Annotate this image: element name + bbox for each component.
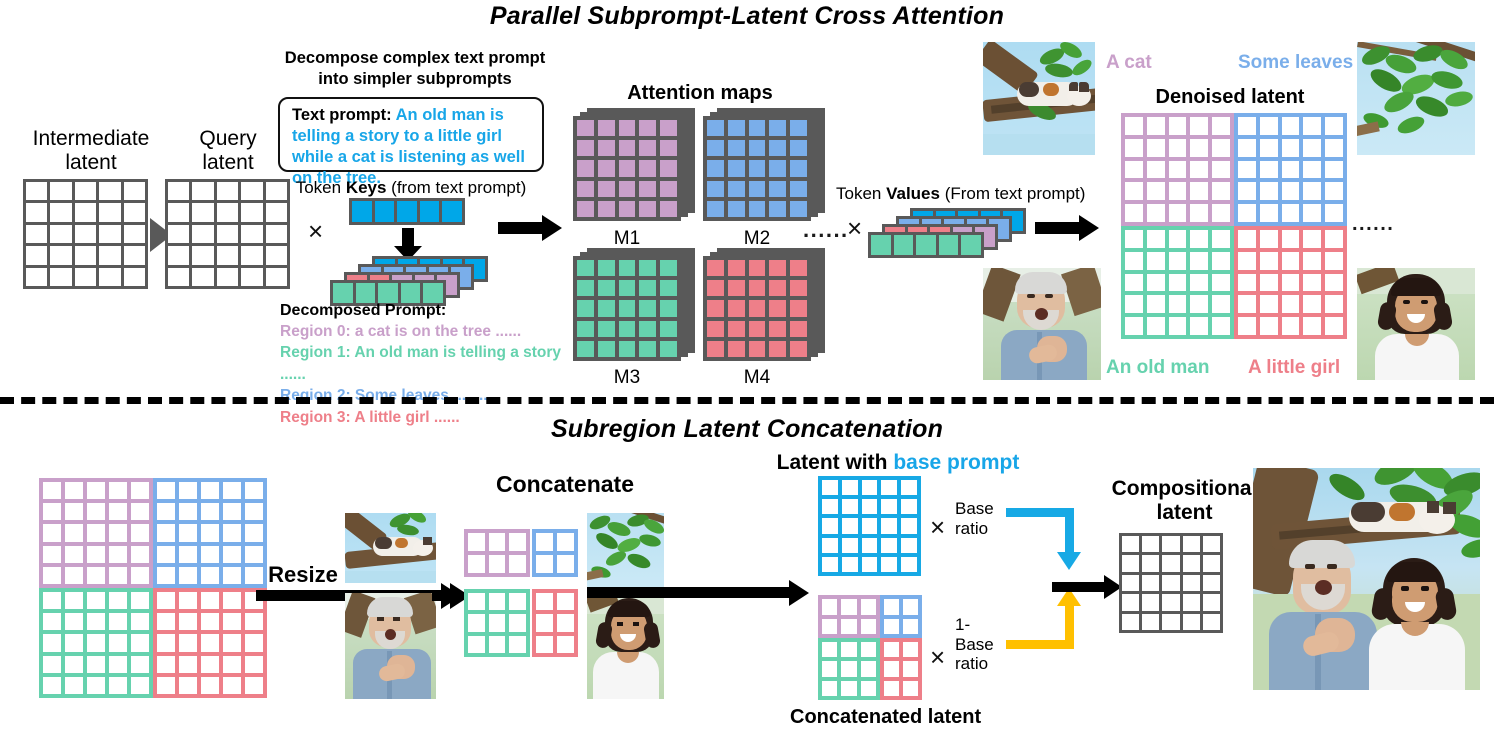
photo-cat-on-tree <box>983 42 1095 155</box>
decomposed-prompt-title: Decomposed Prompt: <box>280 300 580 321</box>
attention-map-m1-label: M1 <box>573 228 681 249</box>
attention-map-m2-label: M2 <box>703 228 811 249</box>
top-section-title: Parallel Subprompt-Latent Cross Attentio… <box>0 2 1494 31</box>
quadrant-label-a-cat: A cat <box>1106 52 1216 73</box>
section-divider <box>0 397 1494 404</box>
attention-map-m4 <box>703 248 825 370</box>
attention-maps-title: Attention maps <box>590 82 810 104</box>
token-keys-bold: Keys <box>346 178 387 197</box>
subregion-latent-quadrant-green <box>39 588 153 698</box>
concat-small-quadrant-blue <box>532 529 578 577</box>
query-latent-label-line1: Query <box>158 127 298 151</box>
token-values-suffix: (From text prompt) <box>940 184 1085 203</box>
denoised-latent-title: Denoised latent <box>1110 86 1350 108</box>
token-keys-strip <box>349 198 465 225</box>
photo-old-man <box>983 268 1101 380</box>
region-1-text: Region 1: An old man is telling a story … <box>280 342 580 385</box>
concat-small-quadrant-purple <box>464 529 530 577</box>
decomposed-prompt-block: Decomposed Prompt: Region 0: a cat is on… <box>280 300 580 428</box>
photo-old-man-small <box>345 593 436 699</box>
photo-cat-on-tree-small <box>345 513 436 583</box>
decompose-note-line2: into simpler subprompts <box>280 69 550 90</box>
query-latent-label: Query latent <box>158 127 298 174</box>
compositional-latent-line2: latent <box>1092 501 1277 525</box>
token-values-bold: Values <box>886 184 940 203</box>
denoised-latent-quadrant-green <box>1121 226 1234 339</box>
intermediate-latent-label: Intermediate latent <box>6 127 176 174</box>
quadrant-label-some-leaves: Some leaves <box>1238 52 1398 73</box>
resize-label: Resize <box>248 563 358 588</box>
compositional-latent-grid <box>1119 533 1223 633</box>
intermediate-latent-label-line2: latent <box>6 151 176 175</box>
bottom-section-title: Subregion Latent Concatenation <box>0 415 1494 444</box>
denoised-latent-quadrant-blue <box>1234 113 1347 226</box>
multiply-icon-keys: × <box>308 216 323 247</box>
text-prompt-label: Text prompt <box>292 106 386 124</box>
attention-map-m2 <box>703 108 825 230</box>
base-prompt-latent-grid <box>818 476 921 576</box>
latent-with-base-prompt-label: Latent with base prompt <box>718 451 1078 475</box>
photo-leaves-small <box>587 513 664 587</box>
text-prompt-colon: : <box>386 106 392 124</box>
attention-map-m1 <box>573 108 695 230</box>
latent-with-base-highlight: base prompt <box>893 451 1019 474</box>
region-0-text: Region 0: a cat is on the tree ...... <box>280 321 580 342</box>
concat-small-quadrant-green <box>464 589 530 657</box>
intermediate-latent-label-line1: Intermediate <box>6 127 176 151</box>
attention-maps-ellipsis: ...... <box>803 217 849 243</box>
multiply-icon-values: × <box>847 213 862 244</box>
subregion-latent-quadrant-red <box>153 588 267 698</box>
token-keys-suffix: (from text prompt) <box>386 178 526 197</box>
quadrant-label-an-old-man: An old man <box>1106 357 1256 378</box>
text-prompt-balloon: Text prompt: An old man is telling a sto… <box>278 97 544 172</box>
query-latent-grid <box>165 179 290 289</box>
denoised-latent-quadrant-purple <box>1121 113 1234 226</box>
intermediate-latent-grid <box>23 179 148 289</box>
token-keys-prefix: Token <box>296 178 346 197</box>
concatenate-label: Concatenate <box>450 472 680 498</box>
one-minus-base-ratio-merge-arrow-icon <box>1006 588 1086 660</box>
token-values-caption: Token Values (From text prompt) <box>836 184 1066 204</box>
base-ratio-merge-arrow-icon <box>1006 508 1086 580</box>
attention-map-m3 <box>573 248 695 370</box>
photo-little-girl-small <box>587 592 664 699</box>
decompose-note: Decompose complex text prompt into simpl… <box>280 48 550 89</box>
decomposed-keys-stack <box>330 256 490 304</box>
concatenated-latent-quadrant-purple <box>818 595 880 638</box>
multiply-icon-base-ratio: × <box>930 512 945 543</box>
token-keys-caption: Token Keys (from text prompt) <box>280 178 542 198</box>
attention-map-m3-label: M3 <box>573 367 681 388</box>
compositional-latent-line1: Compositional <box>1092 477 1277 501</box>
concatenated-latent-quadrant-red <box>880 638 922 700</box>
query-latent-label-line2: latent <box>158 151 298 175</box>
photo-compositional-result <box>1253 468 1480 690</box>
latent-with-base-prefix: Latent with <box>777 451 894 474</box>
concatenated-latent-quadrant-green <box>818 638 880 700</box>
denoised-latent-ellipsis: ...... <box>1352 213 1394 236</box>
denoised-latent-quadrant-red <box>1234 226 1347 339</box>
token-values-stack <box>868 208 1028 256</box>
subregion-latent-quadrant-purple <box>39 478 153 588</box>
concatenated-latent-label: Concatenated latent <box>790 706 970 728</box>
concat-small-quadrant-red <box>532 589 578 657</box>
multiply-icon-one-minus-base-ratio: × <box>930 642 945 673</box>
decompose-note-line1: Decompose complex text prompt <box>280 48 550 69</box>
attention-map-m4-label: M4 <box>703 367 811 388</box>
token-values-prefix: Token <box>836 184 886 203</box>
concatenated-latent-quadrant-blue <box>880 595 922 638</box>
compositional-latent-label: Compositional latent <box>1092 477 1277 526</box>
quadrant-label-a-little-girl: A little girl <box>1248 357 1398 378</box>
